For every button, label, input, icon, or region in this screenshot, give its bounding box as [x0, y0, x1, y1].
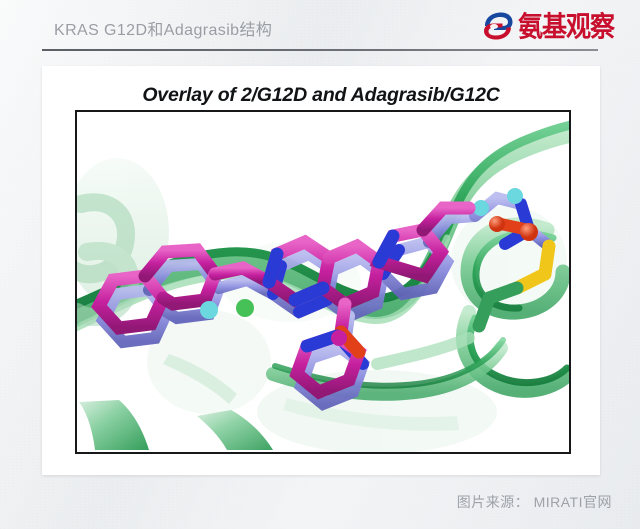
- ajiguancha-logo-mark-icon: [482, 11, 514, 41]
- page-title: KRAS G12D和Adagrasib结构: [54, 16, 272, 40]
- figure-title-suffix: /G12D and Adagrasib/G12C: [252, 84, 500, 106]
- content-card: Overlay of 2/G12D and Adagrasib/G12C: [42, 66, 600, 475]
- brand-logo: 氨基观察: [482, 9, 614, 43]
- slide-header: KRAS G12D和Adagrasib结构 氨基观察: [0, 0, 640, 51]
- figure-title-compound: 2: [241, 84, 252, 106]
- source-label: 图片来源：: [457, 494, 530, 510]
- kras-overlay-structure-image: [77, 112, 569, 452]
- figure-title-prefix: Overlay of: [142, 84, 241, 106]
- brand-logo-text: 氨基观察: [518, 12, 614, 40]
- structure-figure-frame: [75, 110, 571, 454]
- figure-panel-title: Overlay of 2/G12D and Adagrasib/G12C: [42, 84, 600, 107]
- header-divider: [42, 49, 598, 51]
- source-value: MIRATI官网: [534, 494, 612, 510]
- image-source-note: 图片来源： MIRATI官网: [457, 492, 612, 512]
